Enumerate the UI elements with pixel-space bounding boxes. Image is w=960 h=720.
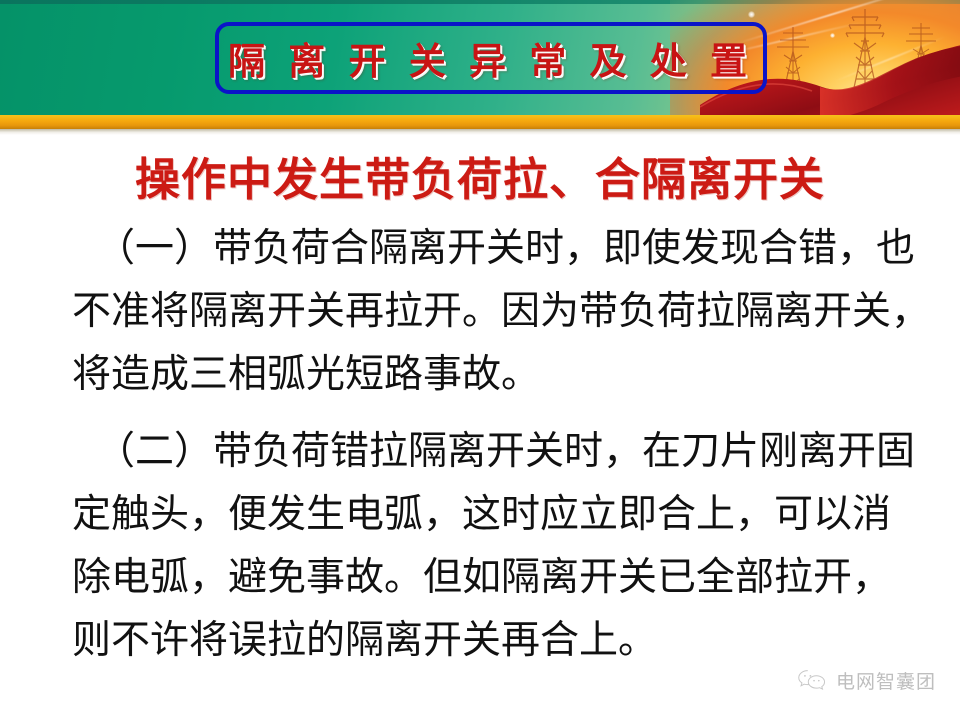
section-heading: 操作中发生带负荷拉、合隔离开关	[0, 149, 960, 211]
paragraph-line: 将造成三相弧光短路事故。	[72, 343, 912, 406]
slide-title-box: 隔 离 开 关 异 常 及 处 置	[215, 22, 767, 94]
paragraph-line: 除电弧，避免事故。但如隔离开关已全部拉开，	[72, 546, 912, 609]
gold-divider-bar	[0, 115, 960, 129]
paragraph-line: 则不许将误拉的隔离开关再合上。	[72, 609, 912, 672]
slide-content: 操作中发生带负荷拉、合隔离开关 （一）带负荷合隔离开关时，即使发现合错，也 不准…	[0, 135, 960, 672]
watermark-label: 电网智囊团	[836, 667, 936, 694]
paragraph-item-one: （一）带负荷合隔离开关时，即使发现合错，也 不准将隔离开关再拉开。因为带负荷拉隔…	[0, 217, 960, 406]
paragraph-line: （一）带负荷合隔离开关时，即使发现合错，也	[72, 217, 912, 280]
slide-root: 隔 离 开 关 异 常 及 处 置 操作中发生带负荷拉、合隔离开关 （一）带负荷…	[0, 0, 960, 720]
spark-icon	[748, 11, 755, 18]
header-banner: 隔 离 开 关 异 常 及 处 置	[0, 0, 960, 115]
paragraph-line: 定触头，便发生电弧，这时应立即合上，可以消	[72, 483, 912, 546]
watermark: 电网智囊团	[797, 667, 936, 694]
paragraph-item-two: （二）带负荷错拉隔离开关时，在刀片刚离开固 定触头，便发生电弧，这时应立即合上，…	[0, 420, 960, 672]
slide-title: 隔 离 开 关 异 常 及 处 置	[219, 26, 763, 90]
paragraph-line: （二）带负荷错拉隔离开关时，在刀片刚离开固	[72, 420, 912, 483]
wechat-logo-icon	[797, 668, 827, 694]
paragraph-line: 不准将隔离开关再拉开。因为带负荷拉隔离开关，	[72, 280, 912, 343]
